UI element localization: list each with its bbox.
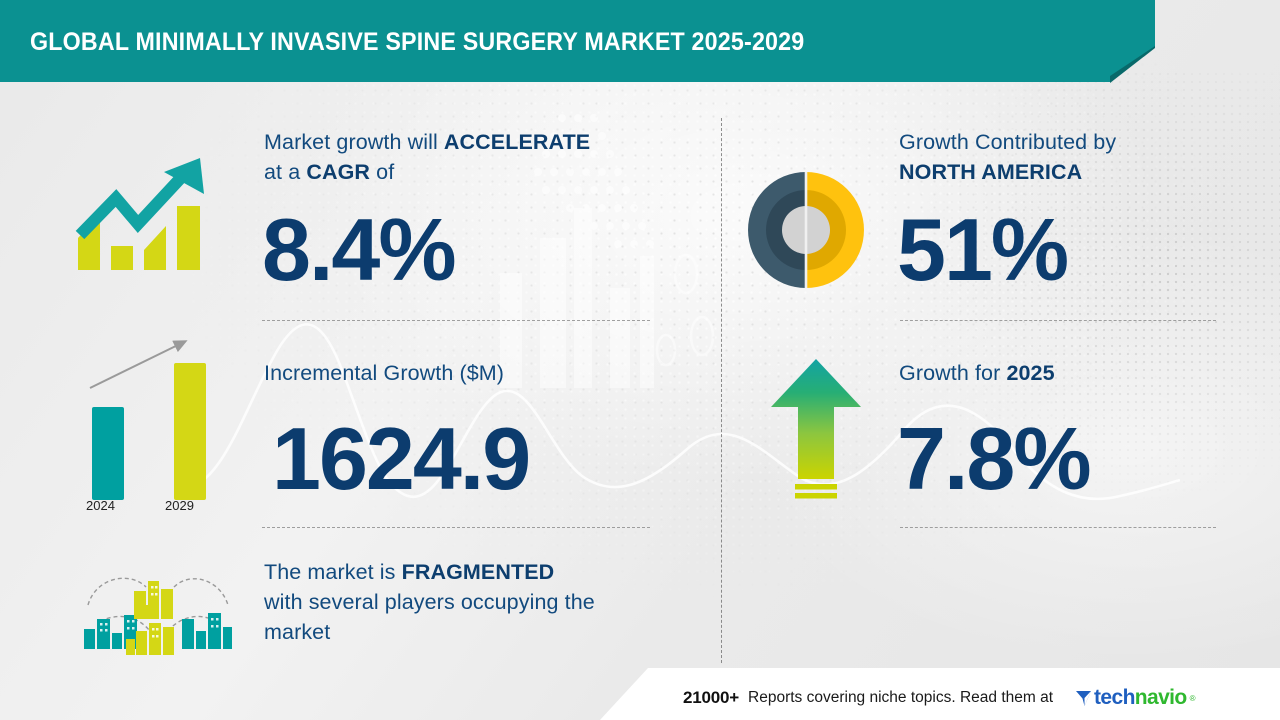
region-value: 51% bbox=[897, 206, 1067, 294]
donut-chart-icon bbox=[744, 168, 868, 292]
fragmentation-line-3: market bbox=[264, 617, 684, 647]
year-growth-prefix: Growth for bbox=[899, 361, 1006, 385]
right-divider-1 bbox=[900, 320, 1216, 321]
left-divider-1 bbox=[262, 320, 650, 321]
fragmentation-line-1: The market is FRAGMENTED bbox=[264, 557, 684, 587]
year-growth-value: 7.8% bbox=[897, 415, 1090, 503]
footer-text: Reports covering niche topics. Read them… bbox=[748, 689, 1053, 707]
cagr-line-2: at a CAGR of bbox=[264, 157, 664, 187]
year-growth-line-1: Growth for 2025 bbox=[899, 358, 1229, 388]
column-divider bbox=[721, 118, 722, 663]
cagr-line2-prefix: at a bbox=[264, 160, 306, 184]
cagr-line2-emphasis: CAGR bbox=[306, 160, 370, 184]
cagr-line2-suffix: of bbox=[370, 160, 394, 184]
header-banner: GLOBAL MINIMALLY INVASIVE SPINE SURGERY … bbox=[0, 0, 1280, 82]
region-line-2: NORTH AMERICA bbox=[899, 157, 1229, 187]
cagr-line1-prefix: Market growth will bbox=[264, 130, 444, 154]
left-divider-2 bbox=[262, 527, 650, 528]
two-bar-growth-icon bbox=[76, 330, 236, 520]
bar-label-2029: 2029 bbox=[165, 498, 194, 513]
technavio-logo[interactable]: technavio ® bbox=[1075, 686, 1196, 710]
region-text-block: Growth Contributed by NORTH AMERICA bbox=[899, 127, 1229, 187]
logo-part-navio: navio bbox=[1135, 686, 1187, 709]
cagr-line-1: Market growth will ACCELERATE bbox=[264, 127, 664, 157]
city-buildings-network-icon bbox=[78, 565, 240, 657]
fragmentation-text-block: The market is FRAGMENTED with several pl… bbox=[264, 557, 684, 647]
up-arrow-gradient-icon bbox=[768, 355, 864, 507]
right-divider-2 bbox=[900, 527, 1216, 528]
technavio-wordmark: technavio bbox=[1094, 686, 1187, 710]
cagr-value: 8.4% bbox=[262, 206, 455, 294]
footer-row: 21000+ Reports covering niche topics. Re… bbox=[683, 686, 1196, 710]
bar-label-2024: 2024 bbox=[86, 498, 115, 513]
footer-report-count: 21000+ bbox=[683, 688, 739, 708]
logo-trademark: ® bbox=[1190, 694, 1196, 703]
logo-part-tech: tech bbox=[1094, 686, 1135, 709]
fragmentation-line1-prefix: The market is bbox=[264, 560, 402, 584]
growth-arrow-bars-icon bbox=[70, 150, 240, 300]
year-growth-emphasis: 2025 bbox=[1006, 361, 1054, 385]
page-title: GLOBAL MINIMALLY INVASIVE SPINE SURGERY … bbox=[30, 28, 804, 57]
cagr-line1-emphasis: ACCELERATE bbox=[444, 130, 590, 154]
technavio-mark-icon bbox=[1075, 689, 1092, 708]
region-line-1: Growth Contributed by bbox=[899, 127, 1229, 157]
fragmentation-line-2: with several players occupying the bbox=[264, 587, 684, 617]
year-growth-text-block: Growth for 2025 bbox=[899, 358, 1229, 388]
cagr-text-block: Market growth will ACCELERATE at a CAGR … bbox=[264, 127, 664, 187]
incremental-growth-value: 1624.9 bbox=[272, 415, 529, 503]
incremental-growth-label: Incremental Growth ($M) bbox=[264, 358, 664, 388]
fragmentation-line1-emphasis: FRAGMENTED bbox=[402, 560, 555, 584]
region-line2-emphasis: NORTH AMERICA bbox=[899, 160, 1082, 184]
